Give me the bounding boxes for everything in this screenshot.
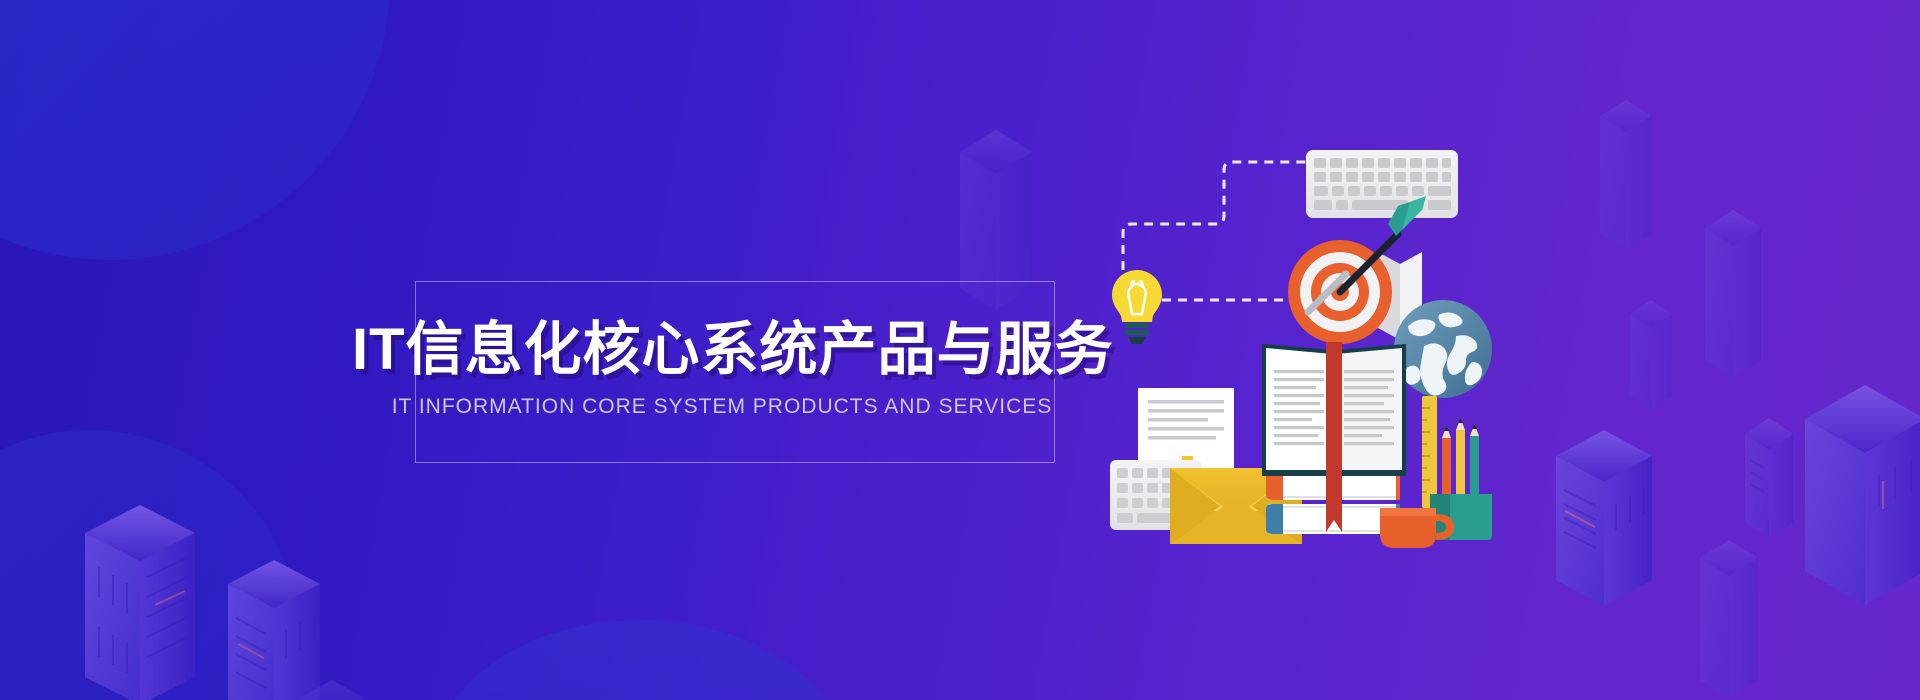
ruler-icon [1422,396,1437,508]
hero-illustration [1110,140,1540,570]
lightbulb-icon [1112,270,1162,344]
isometric-tower-shape [1630,300,1684,420]
circle-bottom-center-shape [430,620,850,700]
page-title: IT信息化核心系统产品与服务 [352,320,1092,381]
isometric-tower-shape [1745,418,1807,548]
isometric-tower-shape [85,505,225,700]
isometric-tower-shape [1700,540,1774,700]
isometric-tower-shape [1805,385,1920,615]
isometric-tower-shape [1556,430,1676,620]
isometric-tower-shape [300,680,380,700]
illustration-svg [1110,140,1540,570]
isometric-tower-shape [1600,100,1666,260]
headline-block: IT信息化核心系统产品与服务 IT INFORMATION CORE SYSTE… [352,320,1092,419]
hero-banner: IT信息化核心系统产品与服务 IT INFORMATION CORE SYSTE… [0,0,1920,700]
circle-top-left-shape [0,0,390,260]
isometric-tower-shape [228,560,344,700]
globe-icon [1394,300,1492,398]
keyboard-icon [1306,150,1458,218]
pencil-cup-icon [1430,418,1492,540]
isometric-tower-shape [1705,210,1777,390]
page-subtitle: IT INFORMATION CORE SYSTEM PRODUCTS AND … [352,395,1092,419]
